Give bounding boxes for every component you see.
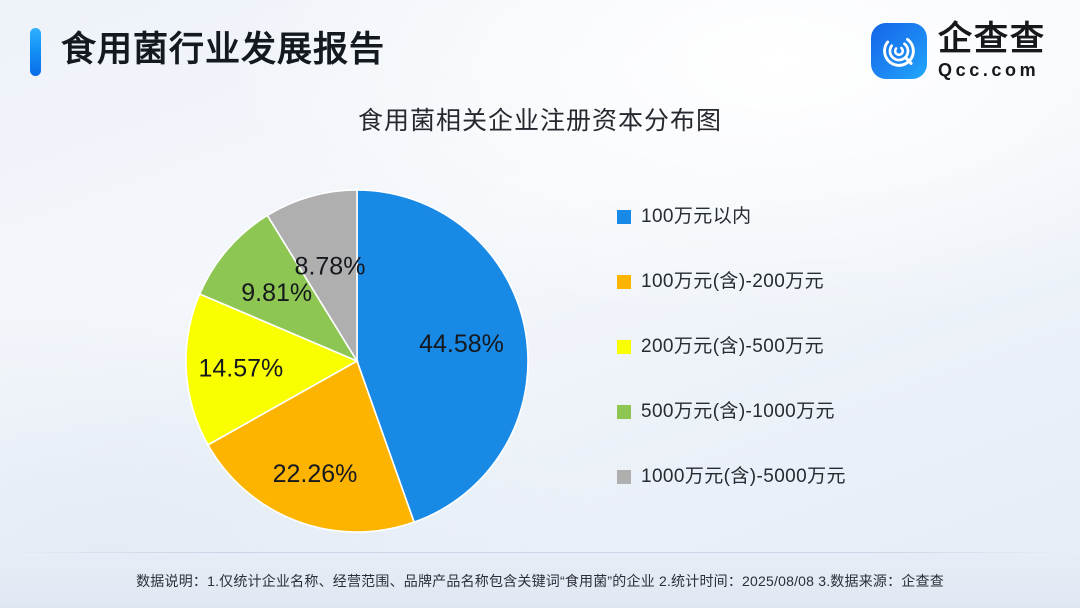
chart-title: 食用菌相关企业注册资本分布图 bbox=[0, 101, 1080, 137]
page-footer: 数据说明：1.仅统计企业名称、经营范围、品牌产品名称包含关键词“食用菌”的企业 … bbox=[0, 553, 1080, 608]
legend-item-label: 200万元(含)-500万元 bbox=[641, 336, 824, 358]
legend-item-label: 1000万元(含)-5000万元 bbox=[641, 466, 846, 488]
pie-slice-label: 8.78% bbox=[295, 253, 366, 281]
pie-chart: 44.58%22.26%14.57%9.81%8.78% bbox=[185, 189, 529, 533]
legend-item[interactable]: 100万元以内 bbox=[617, 206, 947, 271]
pie-slice-label: 44.58% bbox=[419, 330, 504, 358]
legend-swatch-icon bbox=[617, 470, 631, 484]
page-title: 食用菌行业发展报告 bbox=[61, 24, 385, 76]
legend-swatch-icon bbox=[617, 340, 631, 354]
chart-legend: 100万元以内100万元(含)-200万元200万元(含)-500万元500万元… bbox=[617, 206, 947, 531]
pie-slice-label: 22.26% bbox=[273, 460, 358, 488]
legend-swatch-icon bbox=[617, 275, 631, 289]
legend-item[interactable]: 1000万元(含)-5000万元 bbox=[617, 466, 947, 531]
footer-note: 数据说明：1.仅统计企业名称、经营范围、品牌产品名称包含关键词“食用菌”的企业 … bbox=[136, 571, 944, 591]
legend-item-label: 500万元(含)-1000万元 bbox=[641, 401, 835, 423]
title-accent-bar bbox=[30, 28, 41, 76]
legend-item-label: 100万元(含)-200万元 bbox=[641, 271, 824, 293]
brand-wordmark: 企查查 Qcc.com bbox=[938, 22, 1046, 80]
legend-item[interactable]: 500万元(含)-1000万元 bbox=[617, 401, 947, 466]
legend-item[interactable]: 200万元(含)-500万元 bbox=[617, 336, 947, 401]
brand-logo[interactable]: 企查查 Qcc.com bbox=[871, 22, 1046, 80]
qcc-logo-icon bbox=[871, 23, 927, 79]
pie-slice-label: 14.57% bbox=[199, 354, 284, 382]
legend-item[interactable]: 100万元(含)-200万元 bbox=[617, 271, 947, 336]
brand-name-cn: 企查查 bbox=[938, 22, 1046, 57]
pie-chart-svg: 44.58%22.26%14.57%9.81%8.78% bbox=[185, 189, 529, 533]
page-header: 食用菌行业发展报告 企查查 Qcc.com bbox=[0, 0, 1080, 100]
legend-item-label: 100万元以内 bbox=[641, 206, 752, 228]
legend-swatch-icon bbox=[617, 210, 631, 224]
brand-name-en: Qcc.com bbox=[938, 61, 1046, 80]
report-page: 食用菌行业发展报告 企查查 Qcc.com 食用菌相关企业注册资本分布图 bbox=[0, 0, 1080, 608]
pie-slice-label: 9.81% bbox=[241, 279, 312, 307]
legend-swatch-icon bbox=[617, 405, 631, 419]
